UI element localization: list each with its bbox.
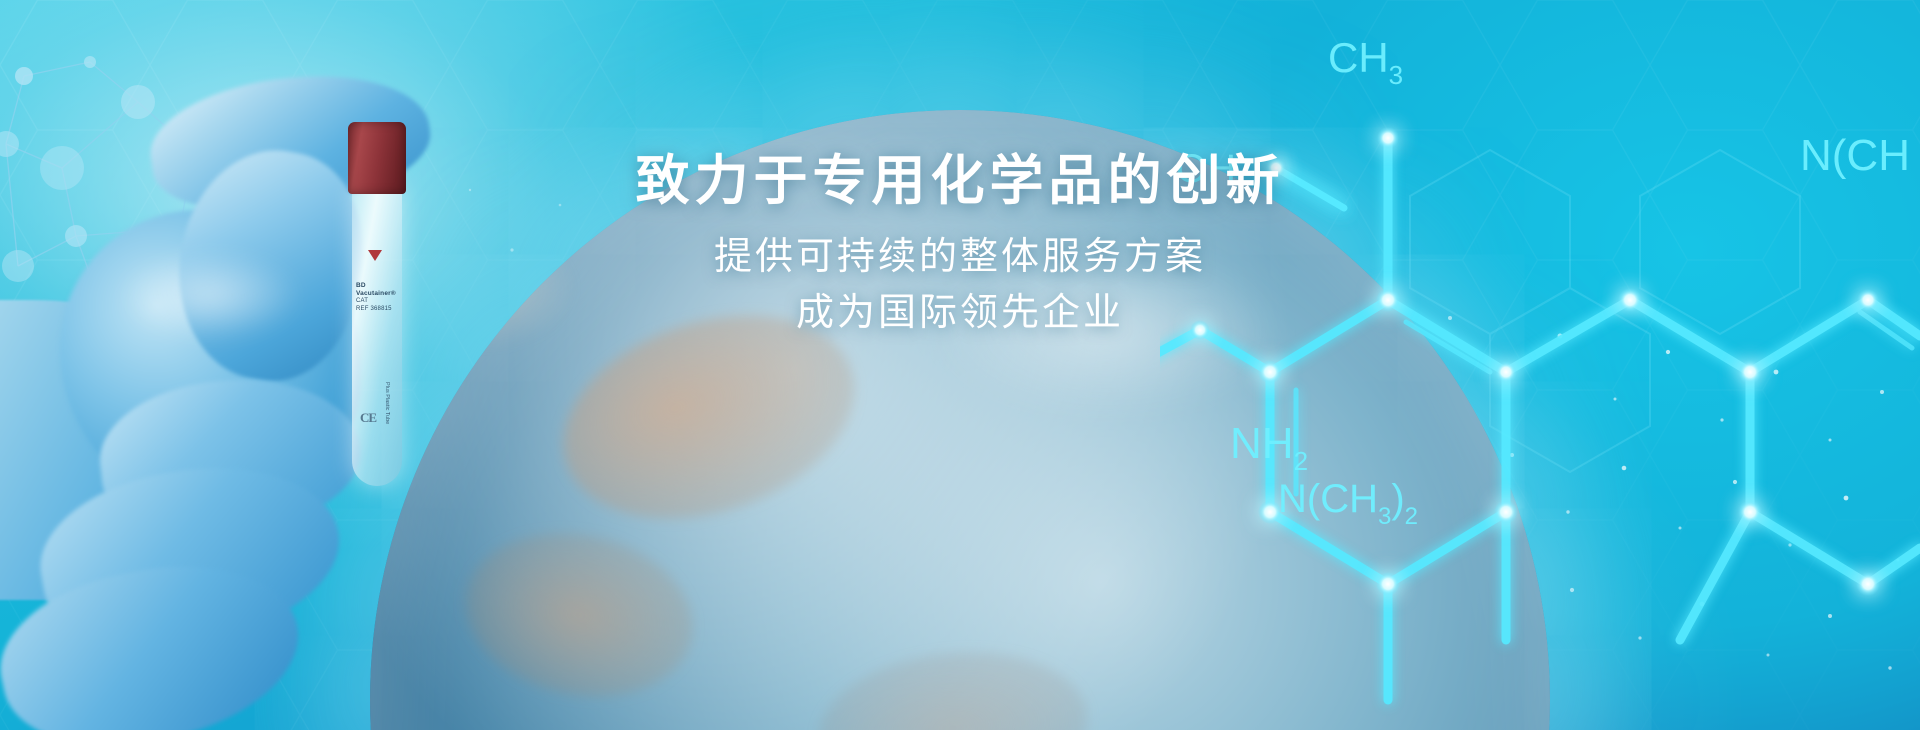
- molecular-structure-right: CH3 N(CH NH2 N(CH3)2: [1160, 0, 1920, 730]
- gloved-hand-photo: BD Vacutainer® CAT REF 368815 Plus Plast…: [0, 0, 560, 730]
- ce-mark-icon: CE: [360, 410, 376, 426]
- glove-ring-finger: [28, 445, 353, 665]
- hero-banner: BD Vacutainer® CAT REF 368815 Plus Plast…: [0, 0, 1920, 730]
- tube-vertical-text: Plus Plastic Tube: [384, 382, 390, 502]
- particle-field: [0, 0, 1920, 730]
- subtitle-line-1: 提供可持续的整体服务方案: [0, 230, 1920, 285]
- molecule-label-nh2: NH2: [1230, 419, 1308, 476]
- molecule-label-ch3: CH3: [1328, 34, 1403, 90]
- landmass-india: [450, 513, 708, 717]
- page-title: 致力于专用化学品的创新: [0, 152, 1920, 210]
- glove-pinky-finger: [0, 541, 314, 730]
- hexagon-texture: [0, 0, 1920, 730]
- glove-forearm: [0, 300, 270, 600]
- molecule-label-nch3-2: N(CH3)2: [1278, 477, 1418, 530]
- hero-copy: 致力于专用化学品的创新 提供可持续的整体服务方案 成为国际领先企业: [0, 152, 1920, 341]
- glove-middle-finger: [93, 367, 367, 543]
- landmass-oceania: [811, 639, 1095, 730]
- subtitle-line-2: 成为国际领先企业: [0, 286, 1920, 341]
